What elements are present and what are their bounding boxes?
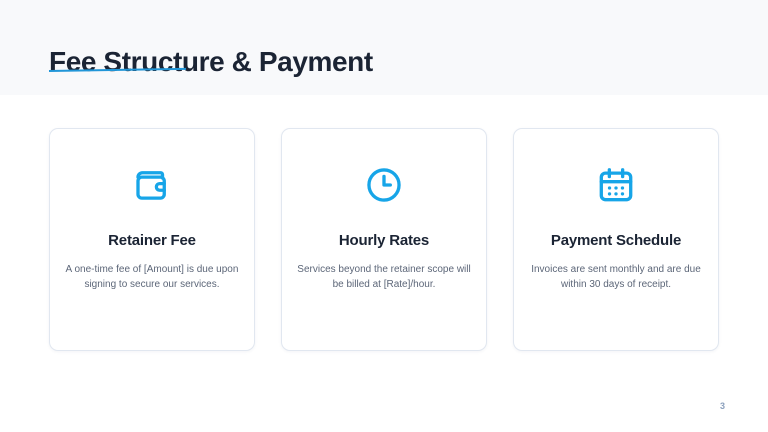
card-payment-schedule[interactable]: Payment Schedule Invoices are sent month… <box>513 128 719 351</box>
wallet-icon <box>129 162 175 208</box>
card-title: Payment Schedule <box>551 232 681 249</box>
slide-root: Fee Structure & Payment Retainer Fee A o… <box>0 0 768 432</box>
page-number: 3 <box>720 401 725 411</box>
cards-row: Retainer Fee A one-time fee of [Amount] … <box>49 128 719 351</box>
card-hourly-rates[interactable]: Hourly Rates Services beyond the retaine… <box>281 128 487 351</box>
card-title: Hourly Rates <box>339 232 429 249</box>
card-body: Services beyond the retainer scope will … <box>296 262 472 292</box>
card-title: Retainer Fee <box>108 232 196 249</box>
card-body: Invoices are sent monthly and are due wi… <box>528 262 704 292</box>
card-body: A one-time fee of [Amount] is due upon s… <box>64 262 240 292</box>
card-retainer-fee[interactable]: Retainer Fee A one-time fee of [Amount] … <box>49 128 255 351</box>
calendar-icon <box>593 162 639 208</box>
page-title: Fee Structure & Payment <box>49 46 373 78</box>
clock-icon <box>361 162 407 208</box>
